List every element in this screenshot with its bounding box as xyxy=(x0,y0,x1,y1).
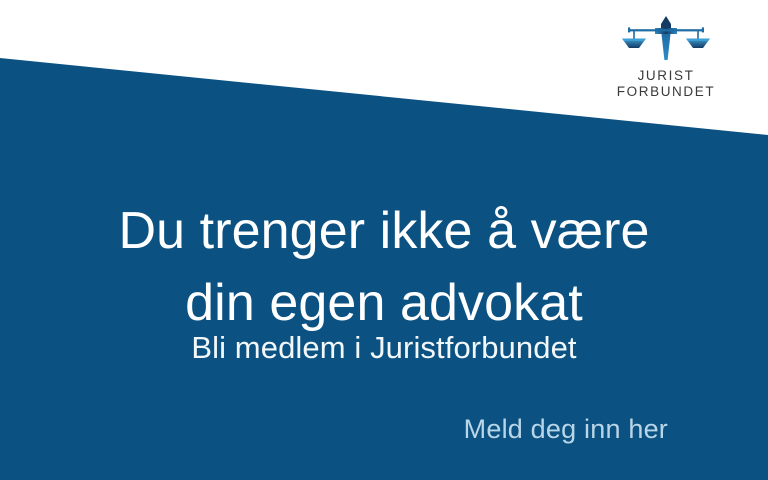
juristforbundet-logo[interactable]: JURIST FORBUNDET xyxy=(606,14,726,99)
logo-wordmark-line1: JURIST xyxy=(606,68,726,84)
scales-of-justice-icon xyxy=(620,14,712,62)
join-now-link[interactable]: Meld deg inn her xyxy=(464,412,668,446)
subheadline: Bli medlem i Juristforbundet xyxy=(0,328,768,368)
logo-wordmark-line2: FORBUNDET xyxy=(606,84,726,100)
logo-wordmark: JURIST FORBUNDET xyxy=(606,68,726,99)
advertisement-banner[interactable]: JURIST FORBUNDET Du trenger ikke å være … xyxy=(0,0,768,480)
headline: Du trenger ikke å være din egen advokat xyxy=(0,195,768,339)
headline-line-1: Du trenger ikke å være xyxy=(0,195,768,267)
